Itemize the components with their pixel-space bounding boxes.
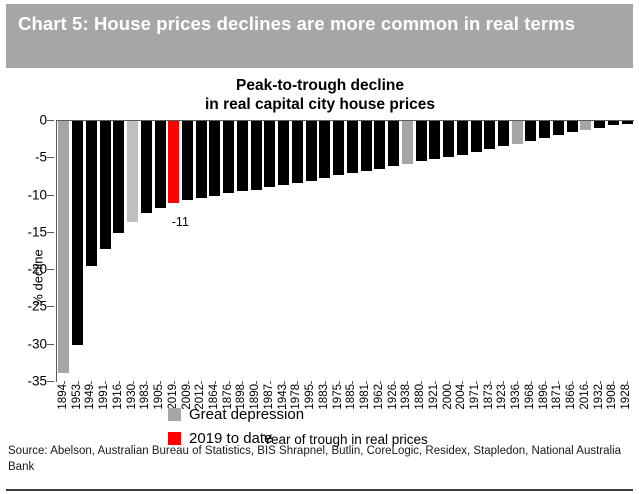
bar-1983 [141, 121, 152, 213]
x-axis-tick-1926: 1926 [388, 384, 399, 410]
bar-1991 [100, 121, 111, 249]
bar-1968 [525, 121, 536, 141]
bottom-rule [6, 489, 633, 491]
y-axis-tick-mark-4 [47, 269, 54, 270]
bar-1871 [553, 121, 564, 135]
source-note: Source: Abelson, Australian Bureau of St… [8, 444, 628, 475]
y-axis-tick-mark-5 [47, 306, 54, 307]
x-axis-tick-2004: 2004 [456, 384, 467, 410]
bar-1905 [155, 121, 166, 208]
bar-1928 [622, 121, 633, 124]
bar-1981 [361, 121, 372, 171]
x-axis-tick-1896: 1896 [539, 384, 550, 410]
x-axis-tick-2016: 2016 [580, 384, 591, 410]
x-axis-tick-1971: 1971 [470, 384, 481, 410]
bar-1883 [319, 121, 330, 178]
y-axis-tick-4: -20 [27, 262, 47, 277]
bar-annotation-2019: -11 [172, 215, 189, 229]
bar-2009 [182, 121, 193, 200]
x-axis-tick-1916: 1916 [113, 384, 124, 410]
bar-1923 [498, 121, 509, 146]
x-axis-tick-1930: 1930 [127, 384, 138, 410]
chart-title-line-2: in real capital city house prices [60, 95, 580, 114]
bar-1873 [484, 121, 495, 149]
y-axis-tick-mark-0 [47, 120, 54, 121]
bar-1995 [306, 121, 317, 181]
chart-header-banner: Chart 5: House prices declines are more … [6, 4, 633, 68]
x-axis-tick-1928: 1928 [621, 384, 632, 410]
bar-1936 [512, 121, 523, 144]
bar-1866 [567, 121, 578, 132]
x-axis-tick-1866: 1866 [566, 384, 577, 410]
bar-1949 [86, 121, 97, 266]
y-axis-tick-mark-3 [47, 232, 54, 233]
x-axis-tick-1908: 1908 [607, 384, 618, 410]
x-axis-tick-1873: 1873 [484, 384, 495, 410]
x-axis-tick-1968: 1968 [525, 384, 536, 410]
bar-2016 [580, 121, 591, 130]
bar-2004 [457, 121, 468, 155]
x-axis-tick-1932: 1932 [594, 384, 605, 410]
y-axis-tick-labels: 0-5-10-15-20-25-30-35 [0, 120, 55, 382]
bar-1908 [608, 121, 619, 125]
bar-1921 [429, 121, 440, 159]
x-axis-tick-1949: 1949 [85, 384, 96, 410]
bar-1978 [292, 121, 303, 183]
x-axis-tick-1983: 1983 [140, 384, 151, 410]
bar-2012 [196, 121, 207, 198]
bar-1898 [237, 121, 248, 191]
bar-1932 [594, 121, 605, 128]
x-axis-tick-1936: 1936 [511, 384, 522, 410]
x-axis-tick-1871: 1871 [552, 384, 563, 410]
bar-1953 [72, 121, 83, 345]
bar-1971 [471, 121, 482, 152]
bar-1975 [333, 121, 344, 175]
x-axis-tick-1894: 1894 [58, 384, 69, 410]
x-axis-tick-1880: 1880 [415, 384, 426, 410]
bar-1938 [402, 121, 413, 164]
chart-title: Peak-to-trough decline in real capital c… [60, 76, 580, 114]
bar-1926 [388, 121, 399, 166]
y-axis-tick-mark-2 [47, 195, 54, 196]
x-axis-tick-1991: 1991 [99, 384, 110, 410]
bar-1943 [278, 121, 289, 185]
legend-label-great-depression: Great depression [189, 406, 304, 423]
bar-1894 [58, 121, 69, 373]
x-axis-tick-2000: 2000 [443, 384, 454, 410]
bar-1987 [264, 121, 275, 187]
x-axis-tick-1921: 1921 [429, 384, 440, 410]
bar-1885 [347, 121, 358, 173]
bar-1962 [374, 121, 385, 169]
chart-plot-area: % decline 0-5-10-15-20-25-30-35 -11 1894… [0, 120, 639, 390]
bar-1930 [127, 121, 138, 222]
x-axis-tick-1953: 1953 [72, 384, 83, 410]
y-axis-tick-mark-1 [47, 157, 54, 158]
bar-1916 [113, 121, 124, 233]
bar-2000 [443, 121, 454, 157]
y-axis-tick-5: -25 [27, 299, 47, 314]
bar-1880 [416, 121, 427, 161]
bar-series: -11 [57, 121, 634, 382]
y-axis-tick-3: -15 [27, 224, 47, 239]
legend-swatch-great-depression [168, 408, 181, 421]
legend-item-great-depression: Great depression [168, 406, 378, 423]
y-axis-tick-2: -10 [27, 187, 47, 202]
bar-2019 [168, 121, 179, 203]
bar-1890 [251, 121, 262, 190]
y-axis-tick-1: -5 [35, 150, 47, 165]
chart-header-title: Chart 5: House prices declines are more … [18, 9, 621, 39]
y-axis-tick-7: -35 [27, 374, 47, 389]
bar-1896 [539, 121, 550, 138]
y-axis-tick-0: 0 [39, 113, 47, 128]
y-axis-tick-mark-6 [47, 344, 54, 345]
chart-title-line-1: Peak-to-trough decline [60, 76, 580, 95]
y-axis-tick-6: -30 [27, 336, 47, 351]
bar-1876 [223, 121, 234, 193]
x-axis-tick-1938: 1938 [401, 384, 412, 410]
x-axis-tick-1905: 1905 [154, 384, 165, 410]
x-axis-tick-1923: 1923 [497, 384, 508, 410]
bar-1864 [209, 121, 220, 196]
y-axis-tick-mark-7 [47, 381, 54, 382]
